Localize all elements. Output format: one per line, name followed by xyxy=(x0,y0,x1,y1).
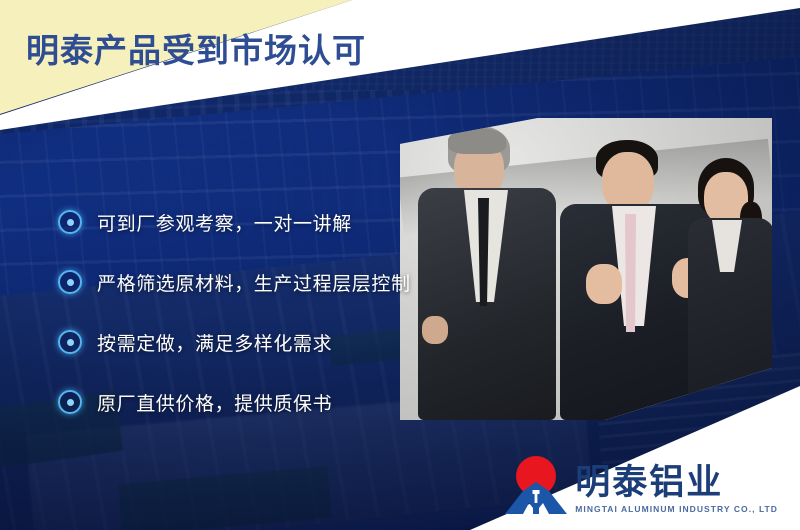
target-dot-icon xyxy=(58,390,82,414)
logo-company-name-cn: 明泰铝业 xyxy=(575,466,723,501)
feature-list: 可到厂参观考察，一对一讲解 严格筛选原材料，生产过程层层控制 按需定做，满足多样… xyxy=(58,208,411,448)
promo-banner: 明泰产品受到市场认可 xyxy=(0,0,800,530)
logo-company-name-en: MINGTAI ALUMINUM INDUSTRY CO., LTD xyxy=(575,504,778,514)
photo-person-3 xyxy=(688,158,772,398)
people-photo-panel xyxy=(400,118,772,420)
feature-list-item-label: 严格筛选原材料，生产过程层层控制 xyxy=(97,269,411,296)
feature-list-item: 原厂直供价格，提供质保书 xyxy=(58,388,411,416)
feature-list-item-label: 可到厂参观考察，一对一讲解 xyxy=(97,209,352,236)
target-dot-icon xyxy=(58,270,82,294)
photo-person-1 xyxy=(418,126,558,420)
page-title: 明泰产品受到市场认可 xyxy=(26,24,366,72)
logo-mountain-shape xyxy=(505,481,567,514)
feature-list-item-label: 原厂直供价格，提供质保书 xyxy=(97,389,332,416)
company-logo: 明泰铝业 MINGTAI ALUMINUM INDUSTRY CO., LTD xyxy=(505,456,778,514)
feature-list-item-label: 按需定做，满足多样化需求 xyxy=(97,329,332,356)
feature-list-item: 可到厂参观考察，一对一讲解 xyxy=(58,208,411,236)
feature-list-item: 严格筛选原材料，生产过程层层控制 xyxy=(58,268,411,296)
logo-text-block: 明泰铝业 MINGTAI ALUMINUM INDUSTRY CO., LTD xyxy=(575,466,778,514)
target-dot-icon xyxy=(58,330,82,354)
target-dot-icon xyxy=(58,210,82,234)
mingtai-sun-mountain-logo-icon xyxy=(505,456,567,514)
feature-list-item: 按需定做，满足多样化需求 xyxy=(58,328,411,356)
